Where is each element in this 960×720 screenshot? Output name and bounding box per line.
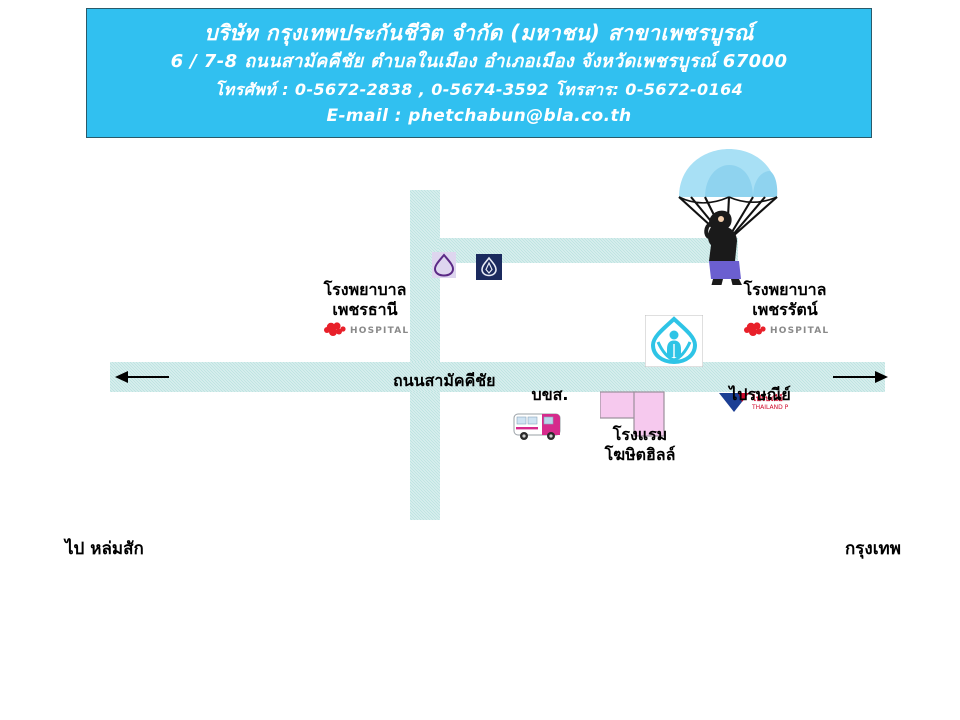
poi-label-line1: บขส. (515, 385, 585, 405)
poi-label-line1: โรงแรม (580, 425, 700, 445)
poi-hospital-phetchathani: โรงพยาบาล เพชรธานี HOSPITAL (300, 280, 430, 341)
poi-hotel-kosit-hill: โรงแรม โฆษิตฮิลล์ (580, 425, 700, 465)
arrow-left-icon (115, 367, 170, 387)
hospital-logo-icon: HOSPITAL (740, 321, 830, 341)
svg-text:THAILAND POST: THAILAND POST (751, 404, 788, 411)
destination-right-label: กรุงเทพ (845, 535, 901, 562)
arrow-right-icon (833, 367, 888, 387)
company-address-line: 6 / 7-8 ถนนสามัคคีชัย ตำบลในเมือง อำเภอเ… (87, 44, 871, 72)
poi-hospital-phetcharat: โรงพยาบาล เพชรรัตน์ HOSPITAL (720, 280, 850, 341)
poi-label-line2: เพชรธานี (300, 300, 430, 320)
company-name-line: บริษัท กรุงเทพประกันชีวิต จำกัด (มหาชน) … (87, 17, 871, 44)
poi-bus-terminal: บขส. (515, 385, 585, 405)
svg-text:HOSPITAL: HOSPITAL (350, 326, 409, 336)
company-header-banner: บริษัท กรุงเทพประกันชีวิต จำกัด (มหาชน) … (86, 8, 872, 138)
poi-label-line2: โฆษิตฮิลล์ (580, 445, 700, 465)
poi-label-line2: เพชรรัตน์ (720, 300, 850, 320)
bus-icon (512, 408, 564, 442)
road-vertical (410, 190, 440, 520)
hospital-logo-icon: HOSPITAL (320, 321, 410, 341)
company-phone-line: โทรศัพท์ : 0-5672-2838 , 0-5674-3592 โทร… (87, 72, 871, 99)
parachutist-icon (665, 145, 785, 285)
location-map: ถนนสามัคคีชัย ไป หล่มสัก กรุงเทพ โรงพยาบ… (0, 140, 960, 720)
company-email-line: E-mail : phetchabun@bla.co.th (87, 99, 871, 126)
poi-post-office: ไปรษณีย์ (700, 385, 820, 405)
poi-label-line1: โรงพยาบาล (300, 280, 430, 300)
bangkok-bank-logo-icon (476, 254, 502, 280)
destination-left-label: ไป หล่มสัก (65, 535, 144, 562)
poi-label-line1: ไปรษณีย์ (700, 385, 820, 405)
bla-emblem-icon (645, 315, 703, 367)
svg-text:HOSPITAL: HOSPITAL (770, 326, 829, 336)
bla-logo-outline-icon (432, 252, 456, 278)
main-road-label: ถนนสามัคคีชัย (393, 369, 496, 394)
